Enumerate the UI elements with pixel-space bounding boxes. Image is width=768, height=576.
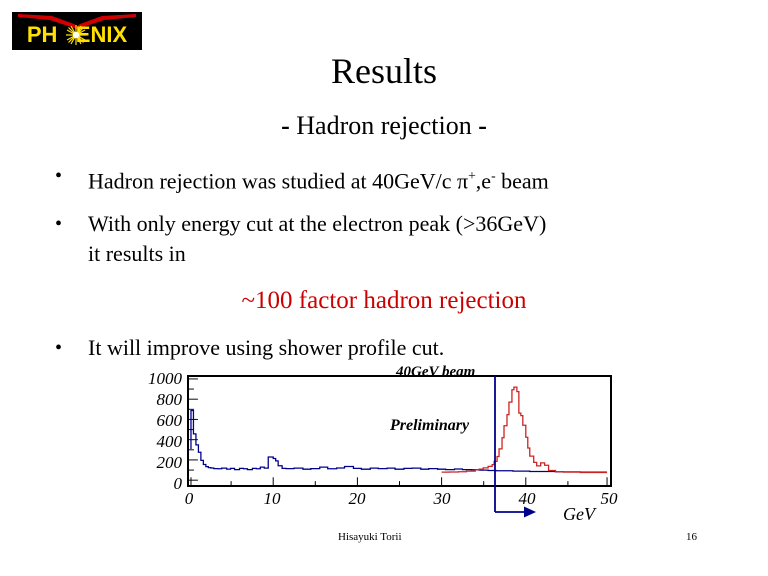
x-tick-label: 50: [589, 490, 629, 508]
bullet-marker-icon: •: [55, 333, 75, 363]
bullet-item-3: • It will improve using shower profile c…: [55, 333, 745, 363]
bullet-1-sup1: +: [468, 168, 476, 183]
preliminary-annotation: Preliminary: [390, 417, 469, 435]
x-tick-label: 40: [507, 490, 547, 508]
y-tick-label: 200: [122, 454, 182, 471]
x-axis-label: GeV: [563, 504, 595, 525]
bullet-1-post: beam: [496, 168, 549, 193]
bullet-marker-icon: •: [55, 161, 75, 191]
bullet-1-mid: ,e: [476, 168, 491, 193]
phenix-logo: PH ENIX: [12, 12, 142, 50]
cut-arrow-head: [524, 507, 536, 518]
x-tick-label: 10: [252, 490, 292, 508]
x-tick-label: 30: [422, 490, 462, 508]
bullet-item-3-text: It will improve using shower profile cut…: [88, 333, 745, 363]
page-title: Results: [0, 50, 768, 92]
footer-author: Hisayuki Torii: [338, 531, 402, 543]
footer-page-number: 16: [686, 531, 697, 543]
y-tick-label: 1000: [122, 370, 182, 387]
phenix-logo-text-left: PH: [27, 22, 58, 47]
y-tick-label: 800: [122, 391, 182, 408]
bullet-1-pre: Hadron rejection was studied at 40GeV/c …: [88, 168, 468, 193]
subtitle-text: Hadron rejection: [296, 111, 471, 140]
x-tick-label: 0: [169, 490, 209, 508]
bullet-item-1-text: Hadron rejection was studied at 40GeV/c …: [88, 161, 745, 196]
y-tick-label: 600: [122, 412, 182, 429]
bullet-marker-icon: •: [55, 209, 75, 239]
bullet-item-2: • With only energy cut at the electron p…: [55, 209, 745, 269]
bullet-item-2-line2: it results in: [88, 239, 745, 269]
page-subtitle: - Hadron rejection -: [0, 110, 768, 142]
subtitle-dash-right: -: [478, 111, 487, 140]
bullet-item-1: • Hadron rejection was studied at 40GeV/…: [55, 161, 745, 196]
beam-annotation: 40GeV beam: [396, 364, 475, 381]
bullet-item-2-line1: With only energy cut at the electron pea…: [88, 209, 745, 239]
phenix-starburst-icon: [65, 24, 87, 46]
energy-spectrum-chart: 1000 800 600 400 200 0: [128, 362, 628, 527]
y-tick-label: 400: [122, 433, 182, 450]
x-tick-label: 20: [337, 490, 377, 508]
highlight-text: ~100 factor hadron rejection: [0, 286, 768, 316]
subtitle-dash-left: -: [281, 111, 290, 140]
